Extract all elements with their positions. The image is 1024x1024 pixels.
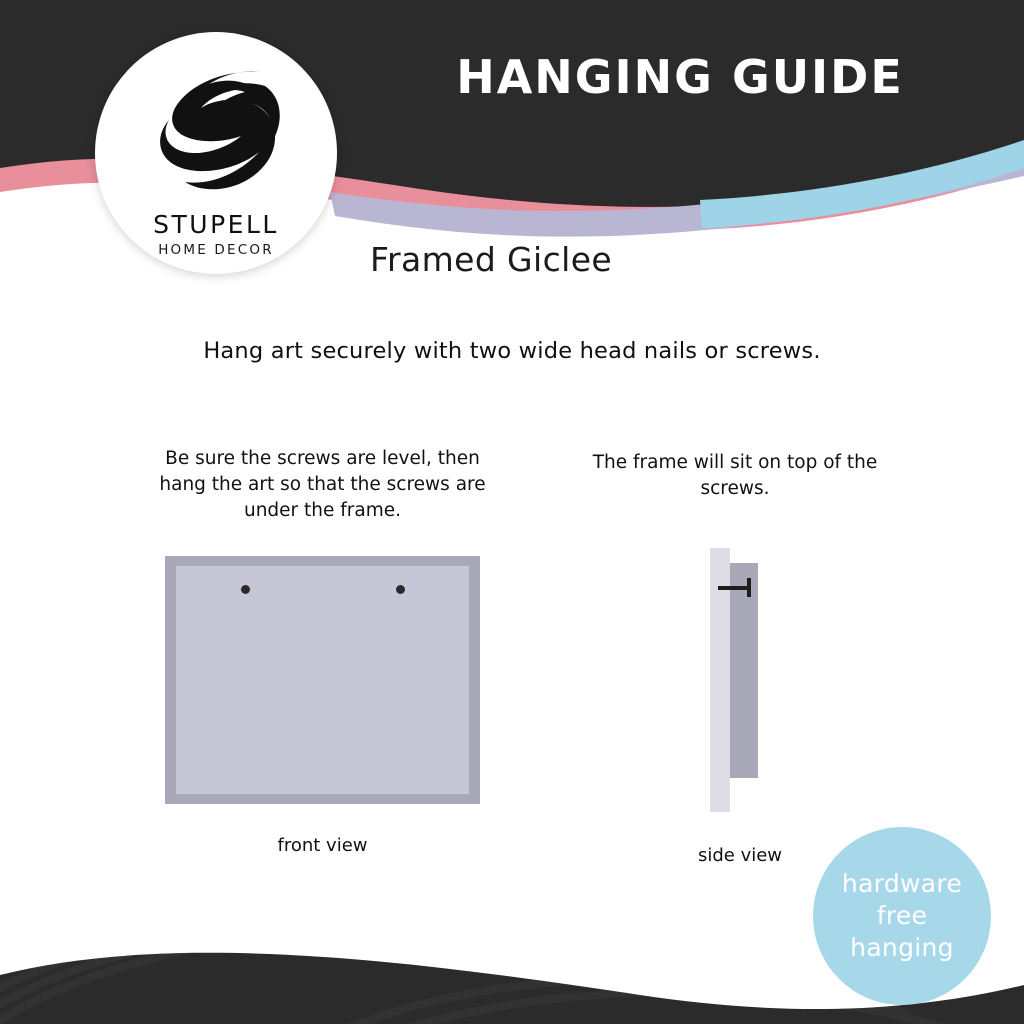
badge-line-3: hanging xyxy=(850,932,954,964)
front-view-art-area xyxy=(176,566,469,794)
screw-dot-right-icon xyxy=(396,585,405,594)
hardware-free-badge: hardware free hanging xyxy=(813,827,991,1005)
badge-line-2: free xyxy=(877,900,928,932)
hanging-guide-page: HANGING GUIDE STUPELL HOME DECOR Framed … xyxy=(0,0,1024,1024)
badge-line-1: hardware xyxy=(842,868,962,900)
product-type-label: Framed Giclee xyxy=(370,240,612,279)
side-view-screw-head-icon xyxy=(747,578,751,597)
front-view-label: front view xyxy=(165,835,480,856)
front-view-frame-diagram xyxy=(165,556,480,804)
page-title: HANGING GUIDE xyxy=(370,50,990,104)
side-view-caption: The frame will sit on top of the screws. xyxy=(570,450,900,502)
brand-tagline: HOME DECOR xyxy=(95,242,337,258)
main-instruction: Hang art securely with two wide head nai… xyxy=(0,338,1024,364)
screw-dot-left-icon xyxy=(241,585,250,594)
brand-logo: STUPELL HOME DECOR xyxy=(95,32,337,274)
swoosh-s-logo-icon xyxy=(141,66,291,198)
side-view-frame xyxy=(730,563,758,778)
brand-name: STUPELL xyxy=(95,210,337,239)
front-view-caption: Be sure the screws are level, then hang … xyxy=(150,446,495,524)
side-view-screw-icon xyxy=(718,586,750,590)
